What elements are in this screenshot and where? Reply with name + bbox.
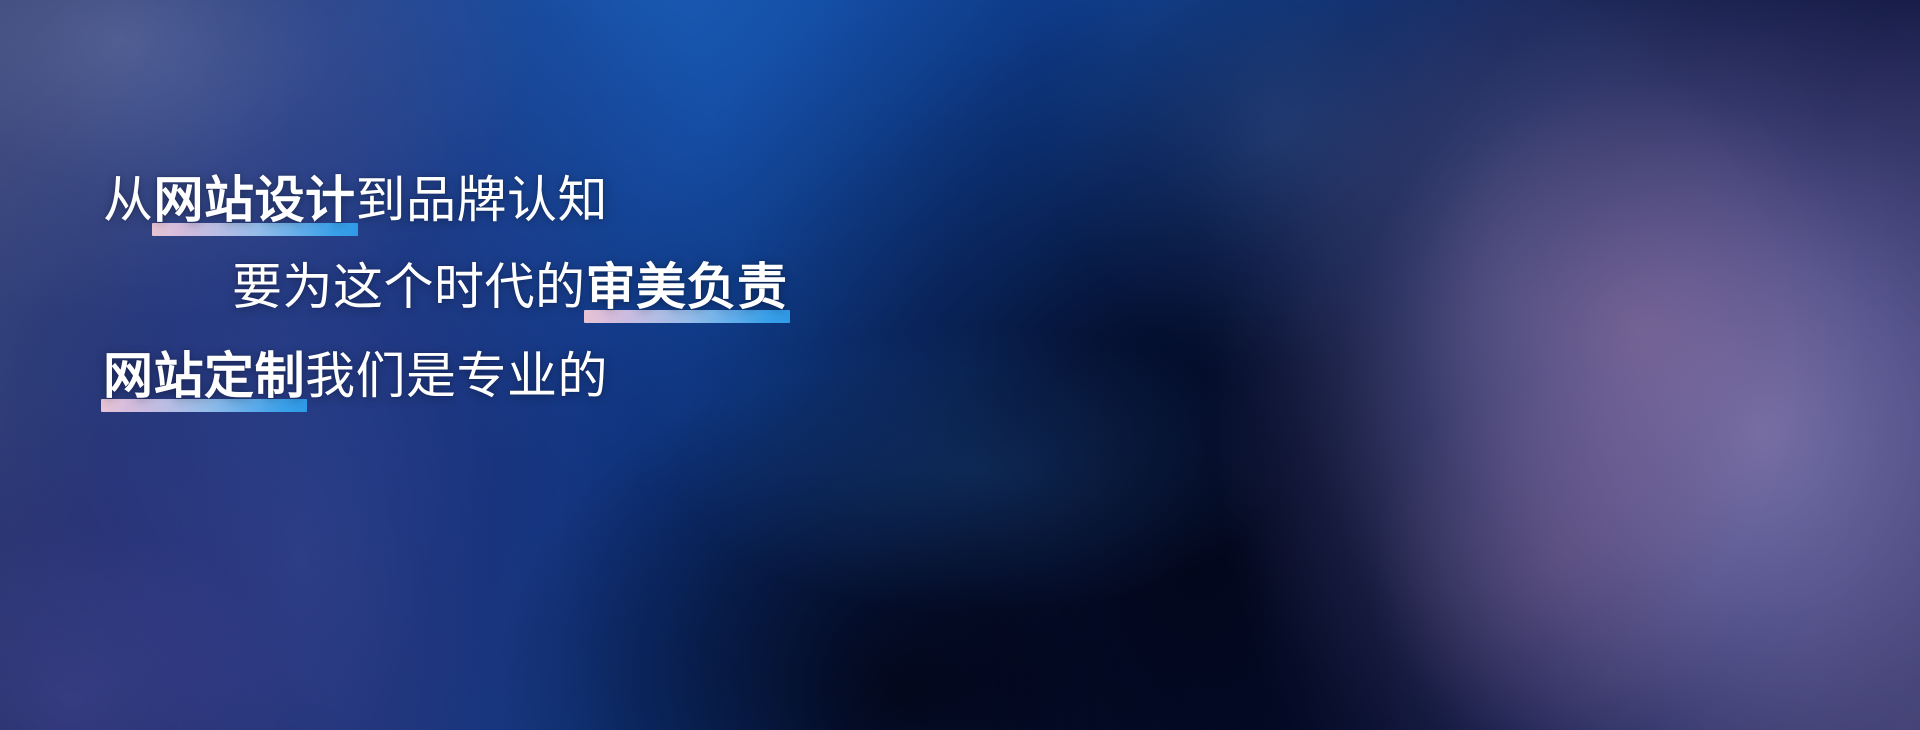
hero-banner: 从网站设计到品牌认知 要为这个时代的审美负责 网站定制我们是专业的 — [0, 0, 1920, 730]
headline-line-3: 网站定制我们是专业的 — [103, 351, 608, 401]
headline-line-3-suffix: 我们是专业的 — [305, 348, 608, 404]
headline-line-1: 从网站设计到品牌认知 — [103, 175, 608, 225]
headline-line-3-emphasis: 网站定制 — [103, 351, 305, 401]
headline-line-1-suffix: 到品牌认知 — [356, 172, 609, 228]
headline-line-2: 要为这个时代的审美负责 — [232, 262, 788, 312]
headline-line-1-emphasis: 网站设计 — [154, 175, 356, 225]
headline-line-2-prefix: 要为这个时代的 — [232, 259, 586, 315]
headline-line-1-prefix: 从 — [103, 172, 154, 228]
headline-line-2-emphasis: 审美负责 — [586, 262, 788, 312]
